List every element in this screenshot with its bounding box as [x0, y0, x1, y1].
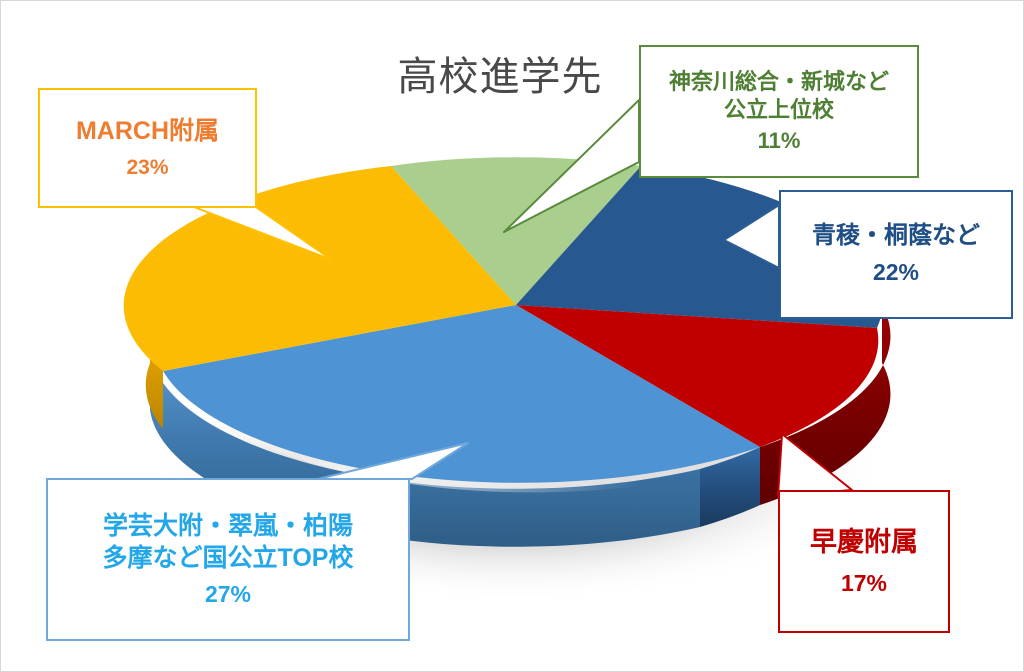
- callout-orange-percent: 23%: [126, 155, 168, 182]
- callout-private-schools[interactable]: 青稜・桐蔭など 22%: [779, 190, 1013, 319]
- chart-title: 高校進学先: [370, 44, 630, 102]
- callout-green-line1: 神奈川総合・新城など: [669, 68, 889, 96]
- slide-canvas: 高校進学先 神奈川総合・新城など 公立上位校 11% 青稜・桐蔭など 22% 早…: [0, 0, 1024, 672]
- callout-ltblue-line2: 多摩など国公立TOP校: [103, 542, 354, 574]
- callout-green-percent: 11%: [758, 127, 801, 155]
- callout-march-affiliated[interactable]: MARCH附属 23%: [38, 88, 257, 208]
- callout-blue-percent: 22%: [873, 258, 919, 287]
- callout-national-public-top[interactable]: 学芸大附・翠嵐・柏陽 多摩など国公立TOP校 27%: [46, 478, 410, 641]
- callout-ltblue-percent: 27%: [205, 580, 251, 609]
- callout-ltblue-line1: 学芸大附・翠嵐・柏陽: [103, 510, 353, 542]
- callout-red-percent: 17%: [841, 569, 887, 598]
- callout-blue-line1: 青稜・桐蔭など: [812, 221, 980, 252]
- callout-public-top-schools[interactable]: 神奈川総合・新城など 公立上位校 11%: [639, 45, 919, 178]
- callout-red-line1: 早慶附属: [810, 525, 918, 560]
- callout-orange-line1: MARCH附属: [76, 115, 219, 147]
- callout-green-line2: 公立上位校: [724, 96, 834, 124]
- callout-sokei-affiliated[interactable]: 早慶附属 17%: [778, 490, 950, 633]
